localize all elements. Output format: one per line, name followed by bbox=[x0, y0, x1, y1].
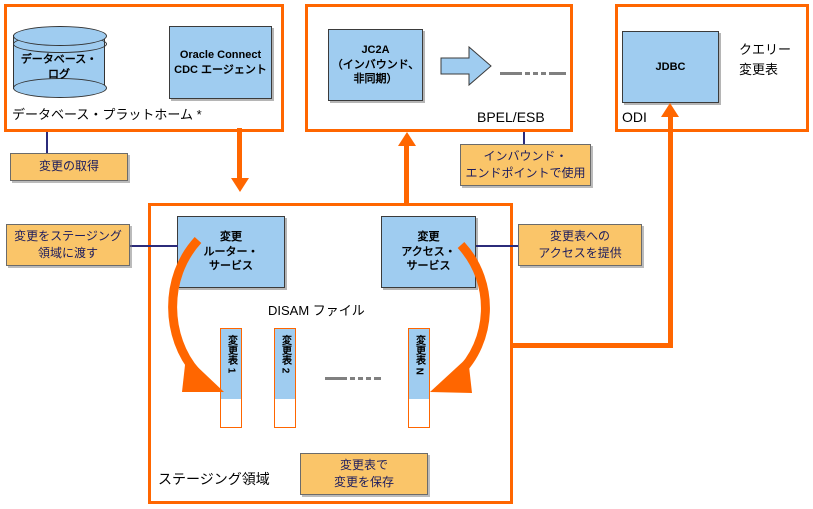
callout-capture-changes: 変更の取得 bbox=[10, 153, 128, 181]
callout-inbound-endpoint: インバウンド・ エンドポイントで使用 bbox=[460, 144, 591, 186]
change-router-line1: 変更 bbox=[204, 230, 259, 245]
callout-provide-access-line1: 変更表への bbox=[538, 228, 621, 245]
frame-bpel-esb-label: BPEL/ESB bbox=[477, 110, 545, 125]
strip-2-label: 変更表 2 bbox=[275, 329, 295, 427]
dash-dot-line-icon bbox=[500, 72, 566, 75]
database-log-label: データベース・ ログ bbox=[13, 53, 105, 83]
cdc-agent-line1: Oracle Connect bbox=[174, 48, 267, 63]
change-access-line3: サービス bbox=[401, 259, 455, 274]
block-arrow-right-icon bbox=[440, 45, 492, 87]
callout-store-changes-line2: 変更を保存 bbox=[334, 474, 394, 491]
query-change-table-text: クエリー 変更表 bbox=[739, 40, 809, 79]
strip-1-label-text: 変更表 1 bbox=[224, 335, 239, 373]
connector-pass-changes bbox=[128, 245, 178, 247]
callout-inbound-endpoint-line1: インバウンド・ bbox=[465, 148, 585, 165]
jc2a-line1: JC2A bbox=[332, 43, 420, 58]
orange-jdbc-arrowhead bbox=[661, 103, 679, 117]
diagram-canvas: データベース・プラットホーム * データベース・ ログ Oracle Conne… bbox=[0, 0, 813, 509]
callout-inbound-endpoint-line2: エンドポイントで使用 bbox=[465, 165, 585, 182]
jc2a-box: JC2A （インバウンド、 非同期） bbox=[328, 29, 423, 101]
callout-provide-access-line2: アクセスを提供 bbox=[538, 245, 621, 262]
callout-pass-changes-line2: 領域に渡す bbox=[14, 245, 122, 262]
change-router-service-box: 変更 ルーター・ サービス bbox=[177, 216, 285, 288]
orange-feed-vertical bbox=[237, 128, 242, 179]
strip-n-label: 変更表 N bbox=[409, 329, 429, 427]
change-table-strip-2: 変更表 2 bbox=[274, 328, 296, 428]
orange-feed-arrowhead bbox=[231, 178, 249, 192]
callout-capture-changes-label: 変更の取得 bbox=[39, 158, 99, 175]
database-log-cylinder: データベース・ ログ bbox=[13, 26, 105, 98]
change-access-line1: 変更 bbox=[401, 230, 455, 245]
orange-jc2a-arrowhead bbox=[398, 132, 416, 146]
frame-staging-area-label: ステージング領域 bbox=[158, 472, 270, 487]
query-change-table-line2: 変更表 bbox=[739, 60, 809, 80]
strip-2-label-text: 変更表 2 bbox=[278, 335, 293, 373]
callout-store-changes-line1: 変更表で bbox=[334, 457, 394, 474]
frame-database-platform-label: データベース・プラットホーム * bbox=[12, 108, 202, 122]
query-change-table-line1: クエリー bbox=[739, 40, 809, 60]
strip-dash-dot-icon bbox=[325, 377, 381, 380]
jc2a-line2: （インバウンド、 bbox=[332, 58, 420, 73]
callout-store-changes-in-change-tables: 変更表で 変更を保存 bbox=[300, 453, 428, 495]
change-access-service-box: 変更 アクセス・ サービス bbox=[381, 216, 476, 288]
cylinder-top bbox=[13, 26, 107, 46]
change-router-line3: サービス bbox=[204, 259, 259, 274]
callout-pass-changes-to-staging: 変更をステージング 領域に渡す bbox=[6, 224, 130, 266]
change-router-line2: ルーター・ bbox=[204, 245, 259, 260]
jdbc-box: JDBC bbox=[622, 31, 719, 103]
change-table-strip-n: 変更表 N bbox=[408, 328, 430, 428]
frame-odi-label: ODI bbox=[622, 110, 647, 125]
disam-files-label: DISAM ファイル bbox=[268, 300, 365, 319]
jc2a-line3: 非同期） bbox=[332, 72, 420, 87]
strip-1-label: 変更表 1 bbox=[221, 329, 241, 427]
strip-n-label-text: 変更表 N bbox=[412, 335, 427, 375]
database-log-line2: ログ bbox=[13, 67, 105, 82]
jdbc-label: JDBC bbox=[656, 60, 686, 75]
database-log-line1: データベース・ bbox=[13, 53, 105, 68]
cdc-agent-line2: CDC エージェント bbox=[174, 63, 267, 78]
change-table-strip-1: 変更表 1 bbox=[220, 328, 242, 428]
cdc-agent-box: Oracle Connect CDC エージェント bbox=[169, 26, 272, 99]
change-access-line2: アクセス・ bbox=[401, 245, 455, 260]
orange-jdbc-horizontal bbox=[510, 343, 673, 348]
orange-jc2a-vertical bbox=[404, 146, 409, 206]
callout-provide-access-to-change-tables: 変更表への アクセスを提供 bbox=[518, 224, 642, 266]
connector-provide-access bbox=[476, 245, 520, 247]
connector-capture-changes bbox=[46, 132, 48, 154]
orange-jdbc-vertical bbox=[668, 117, 673, 348]
disam-files-label-text: DISAM ファイル bbox=[268, 303, 365, 318]
callout-pass-changes-line1: 変更をステージング bbox=[14, 228, 122, 245]
